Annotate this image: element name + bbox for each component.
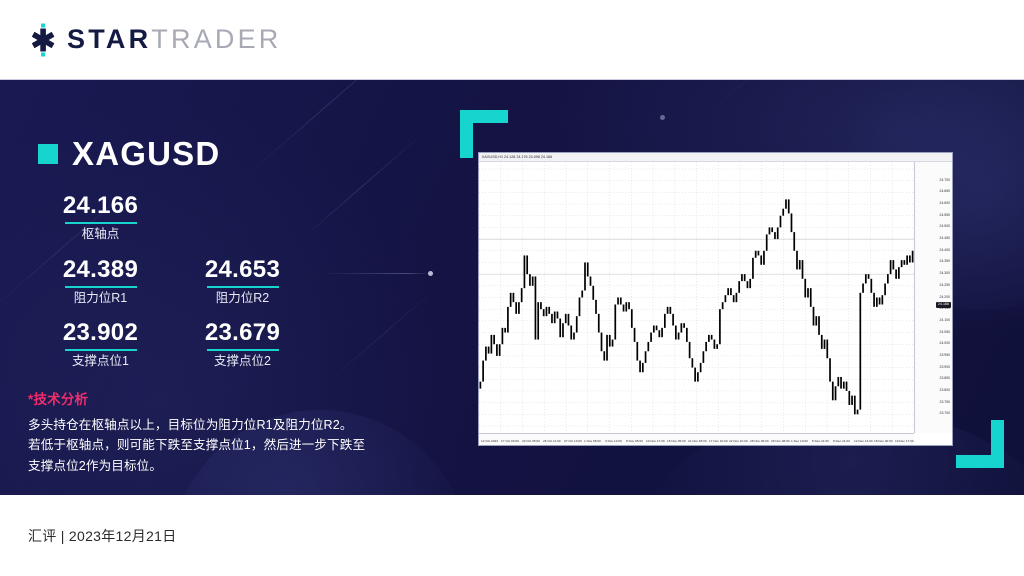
pivot-row-main: 24.166 枢轴点 bbox=[38, 193, 368, 242]
pivot-label: 支撑点位2 bbox=[180, 355, 305, 369]
price-tick: 23.850 bbox=[940, 377, 950, 380]
time-tick: 29 Nov 08:00 bbox=[771, 440, 790, 443]
pivot-cell-r1: 24.389 阻力位R1 bbox=[38, 257, 163, 306]
price-tick: 24.350 bbox=[940, 261, 950, 264]
pivot-underline bbox=[207, 286, 279, 288]
price-tick: 24.550 bbox=[940, 214, 950, 217]
analysis-body: 多头持仓在枢轴点以上，目标位为阻力位R1及阻力位R2。 若低于枢轴点，则可能下跌… bbox=[28, 415, 418, 476]
time-tick: 8 Dec 21:00 bbox=[833, 440, 850, 443]
pivot-value: 24.166 bbox=[38, 193, 163, 219]
time-tick: 22 Nov 10:00 bbox=[729, 440, 748, 443]
pivot-value: 24.389 bbox=[38, 257, 163, 283]
pivot-levels: 24.166 枢轴点 24.389 阻力位R1 24.653 阻力位R2 bbox=[38, 193, 368, 384]
price-tick: 23.900 bbox=[940, 366, 950, 369]
technical-analysis: *技术分析 多头持仓在枢轴点以上，目标位为阻力位R1及阻力位R2。 若低于枢轴点… bbox=[28, 388, 418, 476]
price-tick: 24.450 bbox=[940, 237, 950, 240]
time-tick: 1 Dec 13:00 bbox=[791, 440, 808, 443]
chart-header-bar: XAGUSD,H1 24.128 24.176 24.098 24.166 bbox=[479, 153, 952, 162]
time-tick: 10 Nov 17:00 bbox=[646, 440, 665, 443]
time-tick: 26 Oct 11:00 bbox=[543, 440, 561, 443]
analysis-line: 多头持仓在枢轴点以上，目标位为阻力位R1及阻力位R2。 bbox=[28, 415, 418, 435]
analysis-title: *技术分析 bbox=[28, 388, 418, 408]
current-price-badge: 24.166 bbox=[936, 302, 951, 308]
analysis-line: 支撑点位2作为目标位。 bbox=[28, 456, 418, 476]
star-asterisk-icon bbox=[26, 23, 60, 57]
logo-text-star: STAR bbox=[67, 24, 151, 54]
pivot-label: 阻力位R1 bbox=[38, 292, 163, 306]
pivot-underline bbox=[65, 286, 137, 288]
pivot-underline bbox=[65, 222, 137, 224]
pivot-label: 支撑点位1 bbox=[38, 355, 163, 369]
price-tick: 23.950 bbox=[940, 354, 950, 357]
price-tick: 24.100 bbox=[940, 319, 950, 322]
price-tick: 23.700 bbox=[940, 412, 950, 415]
time-tick: 28 Nov 09:00 bbox=[750, 440, 769, 443]
price-tick: 24.250 bbox=[940, 284, 950, 287]
time-tick: 3 Nov 12:00 bbox=[605, 440, 622, 443]
price-axis[interactable]: 24.70024.65024.60024.55024.50024.45024.4… bbox=[914, 162, 952, 433]
instrument-panel: XAGUSD 24.166 枢轴点 24.389 阻力位R1 bbox=[0, 80, 440, 495]
time-tick: 12 Oct 2023 bbox=[481, 440, 498, 443]
logo-text-trader: TRADER bbox=[151, 24, 281, 54]
price-tick: 24.600 bbox=[940, 202, 950, 205]
price-tick: 24.050 bbox=[940, 331, 950, 334]
time-tick: 17 Oct 03:00 bbox=[501, 440, 519, 443]
page-title: XAGUSD bbox=[72, 137, 220, 170]
pivot-label: 枢轴点 bbox=[38, 228, 163, 242]
corner-bracket-bottom-right-icon bbox=[956, 420, 1004, 468]
price-tick: 24.300 bbox=[940, 272, 950, 275]
corner-bracket-top-left-icon bbox=[460, 110, 508, 158]
pivot-cell-s1: 23.902 支撑点位1 bbox=[38, 320, 163, 369]
pivot-cell-r2: 24.653 阻力位R2 bbox=[180, 257, 305, 306]
price-tick: 24.000 bbox=[940, 342, 950, 345]
accent-square-icon bbox=[38, 144, 58, 164]
time-tick: 19 Dec 17:00 bbox=[895, 440, 914, 443]
pivot-value: 24.653 bbox=[180, 257, 305, 283]
price-chart[interactable]: XAGUSD,H1 24.128 24.176 24.098 24.166 24… bbox=[478, 152, 953, 446]
price-tick: 24.200 bbox=[940, 296, 950, 299]
price-tick: 24.650 bbox=[940, 190, 950, 193]
footer-text: 汇评 | 2023年12月21日 bbox=[28, 526, 177, 546]
pivot-row-support: 23.902 支撑点位1 23.679 支撑点位2 bbox=[38, 320, 368, 369]
footer: 汇评 | 2023年12月21日 bbox=[0, 495, 1024, 576]
pivot-underline bbox=[65, 349, 137, 351]
time-tick: 17 Nov 10:00 bbox=[709, 440, 728, 443]
time-tick: 5 Dec 21:00 bbox=[812, 440, 829, 443]
main-body: XAGUSD 24.166 枢轴点 24.389 阻力位R1 bbox=[0, 80, 1024, 495]
pivot-value: 23.902 bbox=[38, 320, 163, 346]
chart-header-label: XAGUSD,H1 24.128 24.176 24.098 24.166 bbox=[479, 155, 552, 159]
chart-section: XAGUSD,H1 24.128 24.176 24.098 24.166 24… bbox=[440, 80, 1024, 495]
time-tick: 20 Oct 05:00 bbox=[522, 440, 540, 443]
time-tick: 15 Nov 05:00 bbox=[667, 440, 686, 443]
pivot-underline bbox=[207, 349, 279, 351]
pivot-value: 23.679 bbox=[180, 320, 305, 346]
pivot-cell-pivot: 24.166 枢轴点 bbox=[38, 193, 163, 242]
price-tick: 24.400 bbox=[940, 249, 950, 252]
time-tick: 18 Dec 00:00 bbox=[874, 440, 893, 443]
pivot-cell-s2: 23.679 支撑点位2 bbox=[180, 320, 305, 369]
price-tick: 24.500 bbox=[940, 225, 950, 228]
time-tick: 12 Dec 14:00 bbox=[854, 440, 873, 443]
time-tick: 27 Oct 13:00 bbox=[564, 440, 582, 443]
instrument-title-row: XAGUSD bbox=[38, 137, 220, 170]
analysis-line: 若低于枢轴点，则可能下跌至支撑点位1，然后进一步下跌至 bbox=[28, 435, 418, 455]
pivot-label: 阻力位R2 bbox=[180, 292, 305, 306]
brand-header: STARTRADER bbox=[0, 0, 1024, 80]
price-tick: 24.700 bbox=[940, 179, 950, 182]
time-tick: 8 Nov 05:00 bbox=[626, 440, 643, 443]
logo-text: STARTRADER bbox=[67, 26, 282, 53]
trading-analysis-card: STARTRADER XAGUSD 24.166 bbox=[0, 0, 1024, 576]
candlestick-plot[interactable] bbox=[479, 162, 914, 433]
pivot-row-resistance: 24.389 阻力位R1 24.653 阻力位R2 bbox=[38, 257, 368, 306]
price-tick: 23.750 bbox=[940, 401, 950, 404]
time-tick: 1 Nov 05:00 bbox=[584, 440, 601, 443]
time-axis[interactable]: 12 Oct 202317 Oct 03:0020 Oct 05:0026 Oc… bbox=[479, 433, 914, 445]
time-tick: 21 Nov 18:00 bbox=[688, 440, 707, 443]
logo: STARTRADER bbox=[26, 23, 282, 57]
price-tick: 23.800 bbox=[940, 389, 950, 392]
